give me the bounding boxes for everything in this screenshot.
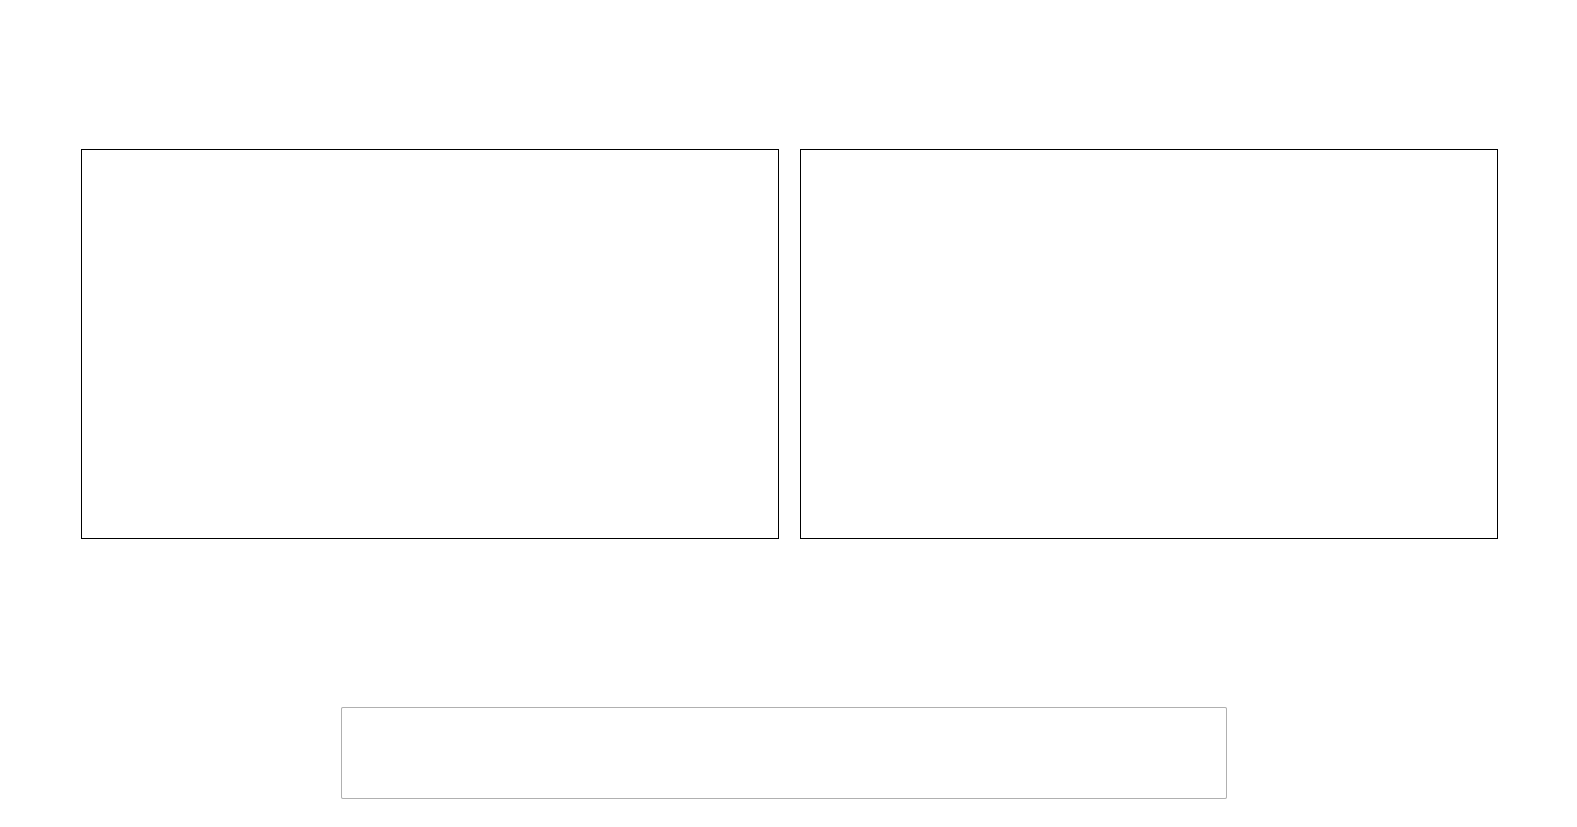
colorbar[interactable] [113, 592, 1453, 618]
map-overlay-amseas [801, 150, 1497, 538]
map-overlay-rtofs [82, 150, 778, 538]
platform-legend[interactable] [341, 707, 1227, 799]
figure-root [0, 0, 1577, 827]
map-panel-amseas[interactable] [800, 149, 1498, 539]
map-panel-rtofs[interactable] [81, 149, 779, 539]
